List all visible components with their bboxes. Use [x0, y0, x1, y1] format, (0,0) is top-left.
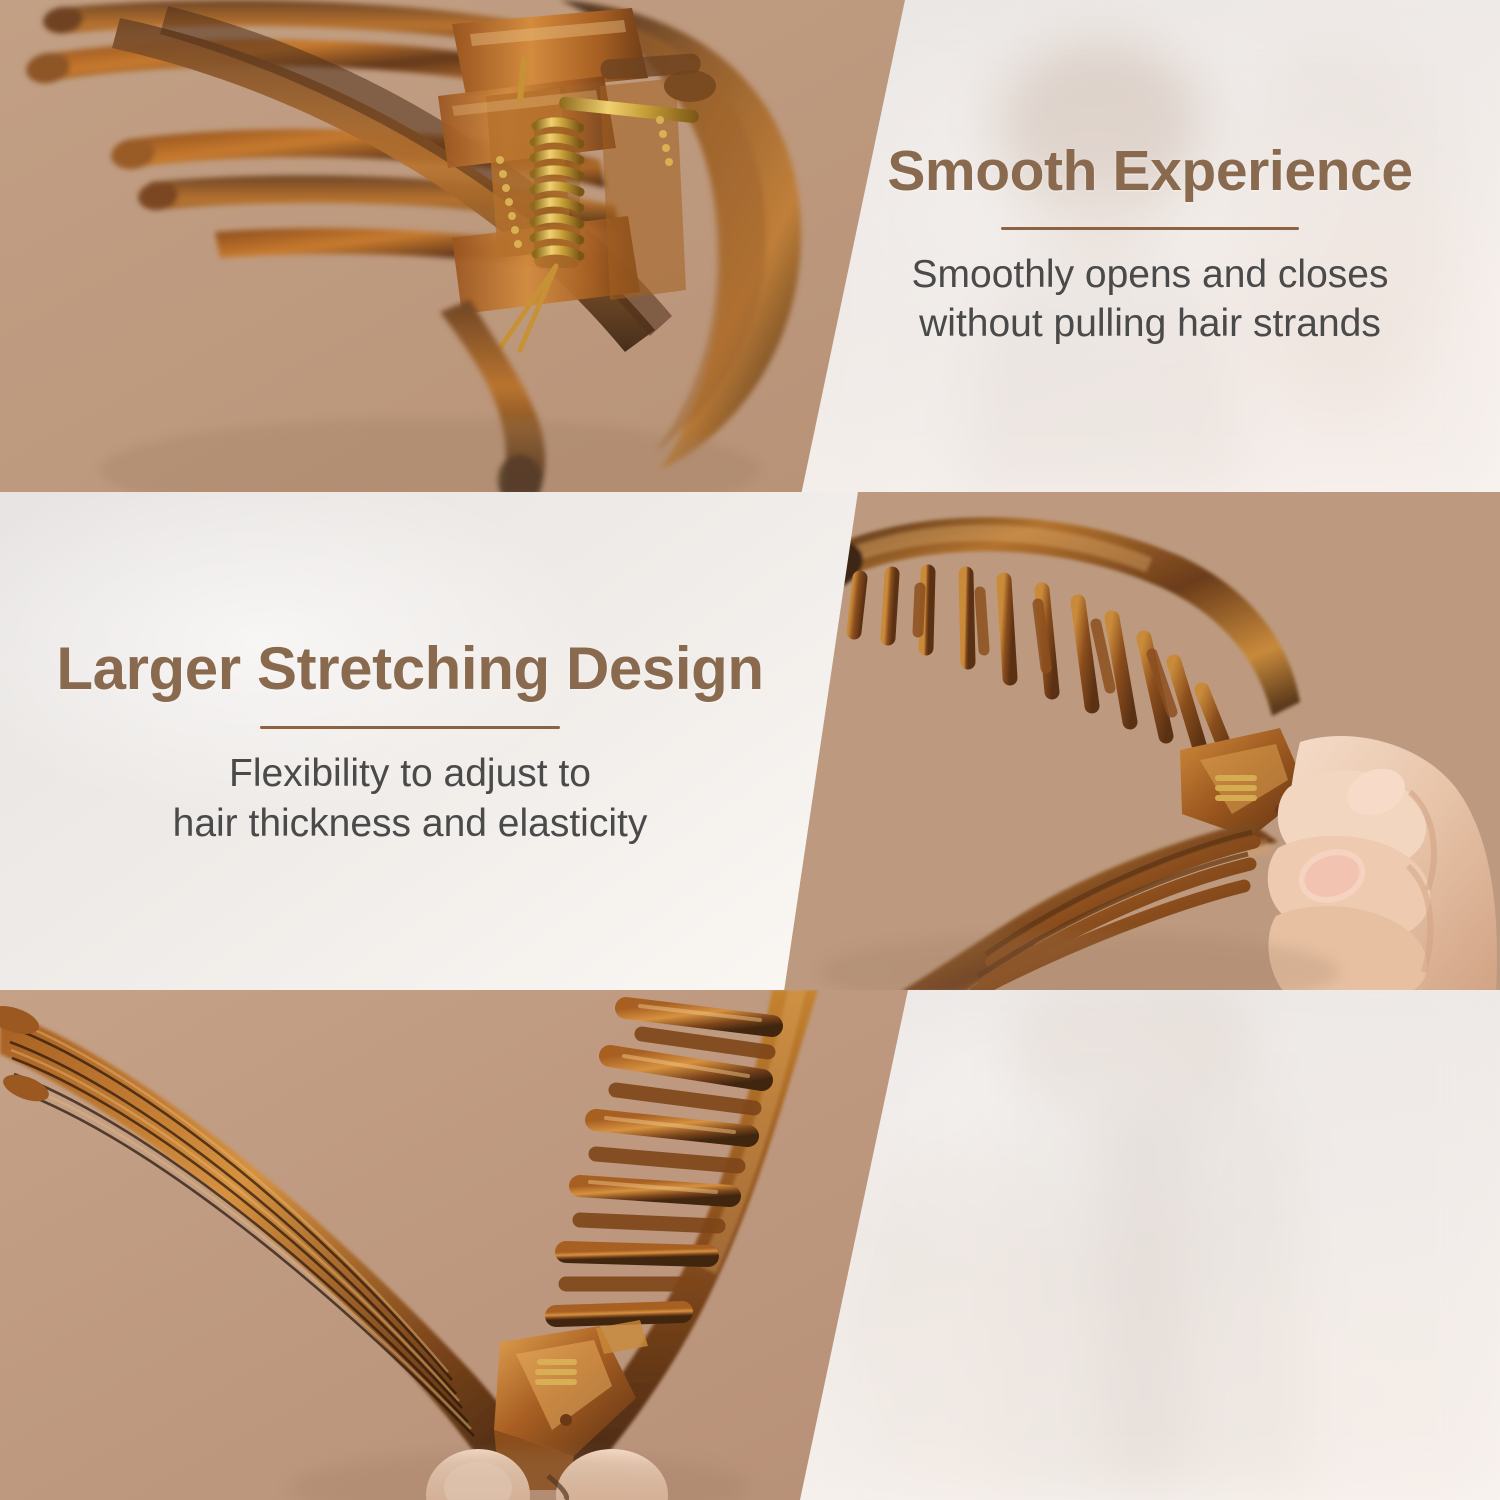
product-feature-infographic: Smooth Experience Smoothly opens and clo…	[0, 0, 1500, 1500]
feature-row-smooth-experience: Smooth Experience Smoothly opens and clo…	[0, 0, 1500, 500]
panel-body-line-1: Flexibility to adjust to	[0, 749, 820, 798]
premium-material-text-pane: Premium Material Non-slip fastening, dur…	[800, 990, 1500, 1500]
larger-stretching-design-text-pane: Larger Stretching Design Flexibility to …	[0, 492, 870, 992]
hinge-closeup-photo	[0, 0, 920, 500]
panel-heading: Larger Stretching Design	[0, 638, 820, 700]
heading-divider-rule	[260, 726, 560, 729]
blurred-person-backdrop	[800, 990, 1500, 1500]
panel-body-line-2: without pulling hair strands	[800, 299, 1500, 348]
smooth-experience-caption: Smooth Experience Smoothly opens and clo…	[800, 142, 1500, 349]
v-open-clip-photo	[0, 990, 930, 1500]
panel-heading: Smooth Experience	[800, 142, 1500, 201]
larger-stretching-design-caption: Larger Stretching Design Flexibility to …	[0, 638, 820, 848]
heading-divider-rule	[1001, 227, 1299, 230]
feature-row-premium-material: Premium Material Non-slip fastening, dur…	[0, 990, 1500, 1500]
smooth-experience-text-pane: Smooth Experience Smoothly opens and clo…	[800, 0, 1500, 500]
hand-holding-clip-photo	[780, 492, 1500, 992]
feature-row-larger-stretching-design: Larger Stretching Design Flexibility to …	[0, 492, 1500, 992]
panel-body-line-1: Smoothly opens and closes	[800, 250, 1500, 299]
panel-body-line-2: hair thickness and elasticity	[0, 799, 820, 848]
